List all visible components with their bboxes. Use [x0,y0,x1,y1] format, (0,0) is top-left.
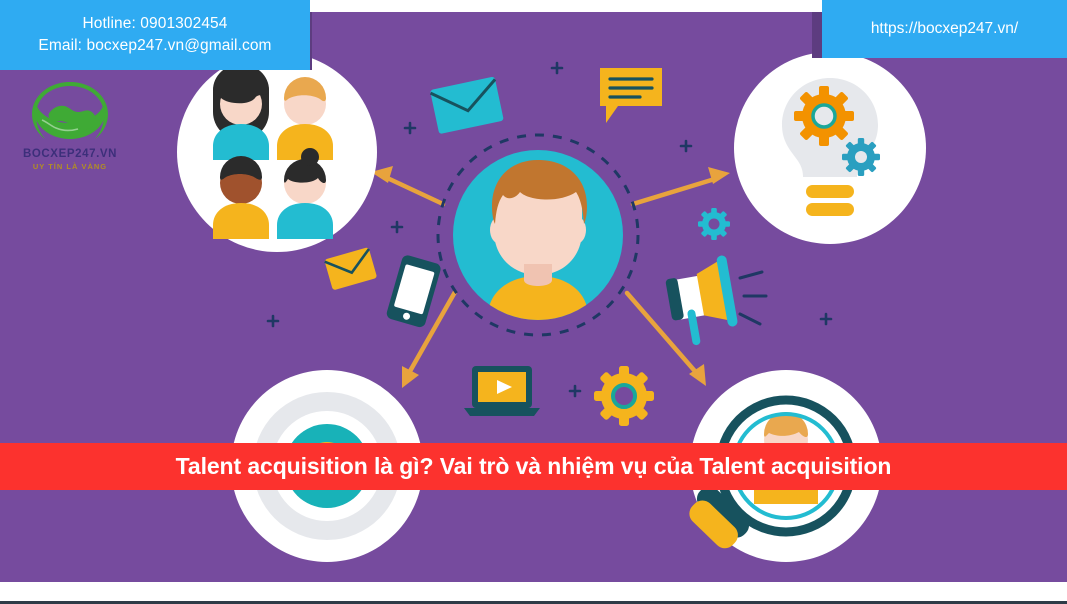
smartphone-icon [385,254,442,328]
email-text: Email: bocxep247.vn@gmail.com [38,36,271,56]
speech-bubble-icon [600,68,662,123]
site-logo[interactable]: BOCXEP247.VN UY TÍN LÀ VÀNG [18,76,122,180]
envelope-teal-icon [430,76,504,134]
megaphone-icon [663,255,766,349]
gear-small-teal-icon [698,208,730,240]
title-banner: Talent acquisition là gì? Vai trò và nhi… [0,443,1067,490]
central-person-avatar [438,135,638,340]
envelope-yellow-icon [324,247,377,290]
gear-orange-icon [794,86,854,146]
logo-tagline: UY TÍN LÀ VÀNG [18,162,122,171]
gear-large-yellow-icon [594,366,654,426]
contact-banner[interactable]: Hotline: 0901302454 Email: bocxep247.vn@… [0,0,310,70]
website-banner[interactable]: https://bocxep247.vn/ [822,0,1067,58]
talent-acquisition-illustration [0,0,1067,604]
infographic-canvas: BOCXEP247.VN UY TÍN LÀ VÀNG Hotline: 090… [0,0,1067,604]
laptop-play-icon [464,366,540,416]
gear-teal-icon [842,138,880,176]
node-people-group [177,52,377,252]
website-url-text: https://bocxep247.vn/ [871,20,1018,38]
person-avatar-1 [213,64,269,160]
hotline-text: Hotline: 0901302454 [83,14,228,34]
handshake-logo-icon [18,76,122,150]
logo-name: BOCXEP247.VN [18,148,122,160]
title-text: Talent acquisition là gì? Vai trò và nhi… [176,453,892,480]
node-idea-lightbulb [734,52,926,244]
